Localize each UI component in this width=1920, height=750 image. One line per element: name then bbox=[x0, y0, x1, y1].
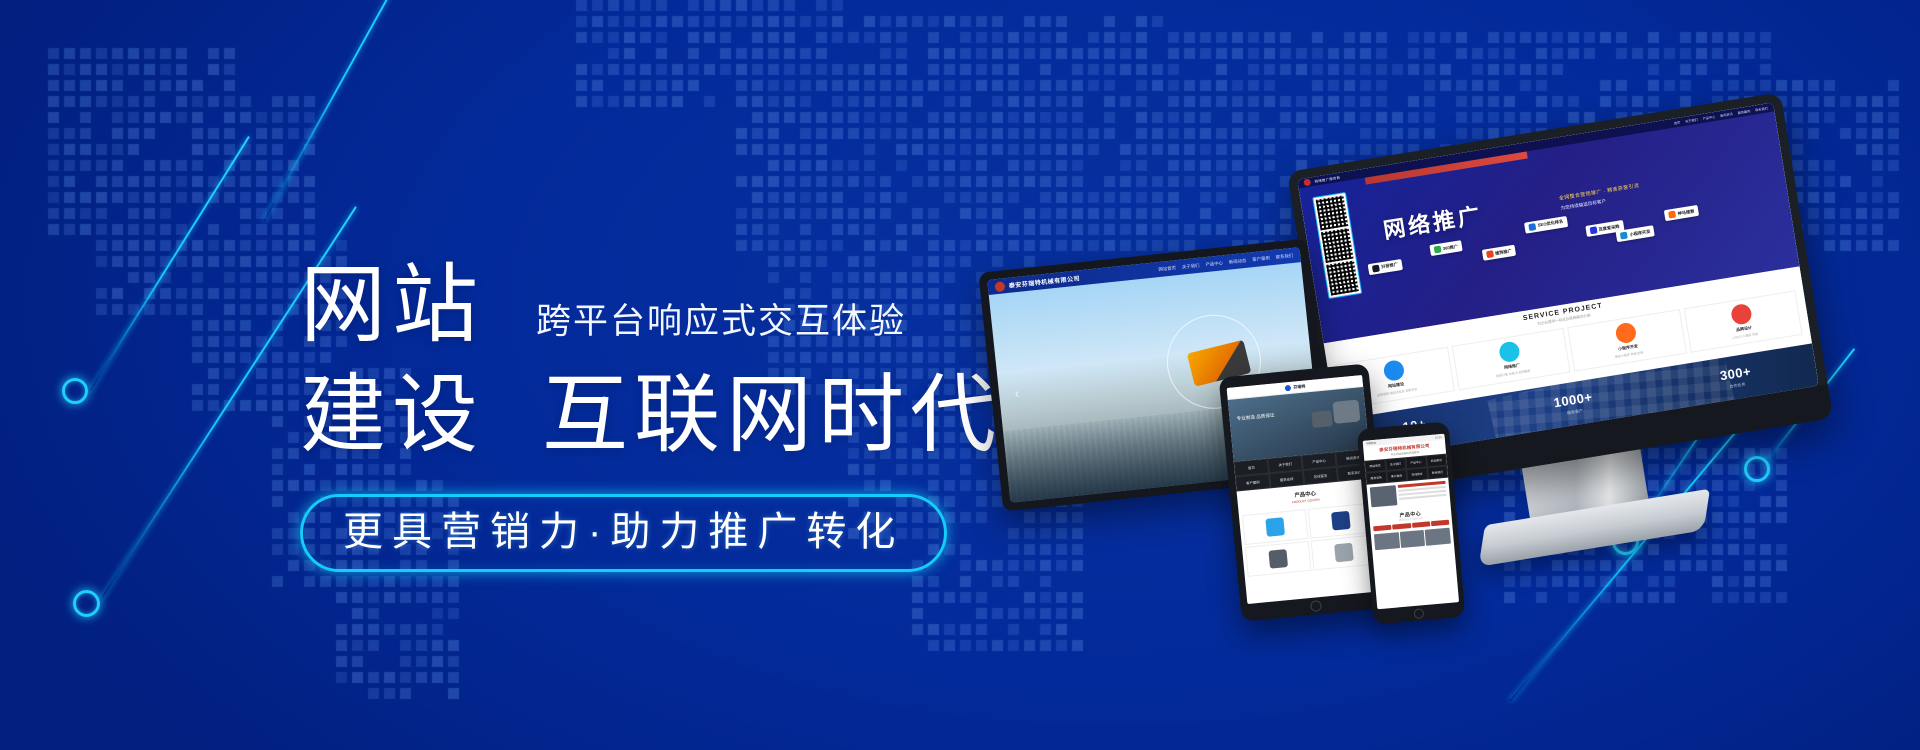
headline-word-2: 建设 bbox=[300, 372, 484, 458]
site-logo-icon bbox=[1303, 178, 1311, 186]
brand-chip[interactable]: 神马搜索 bbox=[1664, 205, 1699, 221]
tablet-hero-product-image bbox=[1332, 399, 1360, 423]
service-card-icon bbox=[1498, 341, 1521, 364]
product-thumb bbox=[1268, 549, 1288, 569]
phone-screen: 中国移动 10:24 泰安芬瑞特机械有限公司 专业机械设备制造服务商 网站首页关… bbox=[1363, 434, 1459, 610]
qr-code-icon bbox=[1316, 195, 1348, 230]
monitor-site-nav: 首页关于我们产品中心新闻资讯服务案例联系我们 bbox=[1673, 105, 1768, 125]
tagline-pill: 更具营销力·助力推广转化 bbox=[300, 494, 947, 572]
headline-word-1: 网站 bbox=[300, 262, 484, 348]
device-mockup-group: 网络推广服务商 首页关于我们产品中心新闻资讯服务案例联系我们 网络推广 全网整合… bbox=[1080, 120, 1920, 640]
brand-chip-label: 小程序开发 bbox=[1629, 229, 1651, 238]
brand-chip[interactable]: 360推广 bbox=[1429, 240, 1463, 256]
service-card-icon bbox=[1382, 360, 1405, 383]
phone-menu-item[interactable]: 服务支持 bbox=[1365, 471, 1386, 485]
brand-logo-icon bbox=[1589, 226, 1597, 234]
brand-chip-label: 360推广 bbox=[1442, 243, 1458, 251]
tablet-site-hero: 专业制造 品质保证 bbox=[1228, 387, 1369, 462]
tablet-product-grid bbox=[1239, 499, 1381, 580]
laptop-site-company: 泰安芬瑞特机械有限公司 bbox=[1008, 273, 1080, 289]
hero-banner: 网站 跨平台响应式交互体验 建设 互联网时代 更具营销力·助力推广转化 bbox=[0, 0, 1920, 750]
laptop-nav-item[interactable]: 客户案例 bbox=[1252, 255, 1270, 263]
service-card-icon bbox=[1614, 322, 1637, 345]
product-thumb bbox=[1334, 543, 1354, 563]
phone-menu-item[interactable]: 联系我们 bbox=[1427, 466, 1448, 480]
product-thumb bbox=[1265, 517, 1285, 537]
brand-logo-icon bbox=[1620, 232, 1628, 240]
headline-block: 网站 跨平台响应式交互体验 建设 互联网时代 更具营销力·助力推广转化 bbox=[300, 262, 1060, 572]
news-thumbnail bbox=[1370, 485, 1398, 507]
monitor-site-hero-sub-white: 为您持续输送目标客户 bbox=[1560, 199, 1606, 212]
phone-clock: 10:24 bbox=[1435, 436, 1442, 440]
brand-chip-label: SEO优化排名 bbox=[1537, 219, 1563, 229]
monitor-site-qr-strip bbox=[1312, 192, 1362, 299]
brand-chip[interactable]: 搜狗推广 bbox=[1481, 245, 1516, 261]
news-text-lines bbox=[1398, 481, 1448, 505]
gallery-thumb[interactable] bbox=[1425, 528, 1451, 546]
monitor-nav-item[interactable]: 新闻资讯 bbox=[1720, 111, 1733, 118]
monitor-nav-item[interactable]: 服务案例 bbox=[1737, 108, 1750, 115]
brand-chip-label: 搜狗推广 bbox=[1495, 248, 1513, 257]
laptop-site-logo-icon bbox=[994, 281, 1005, 292]
brand-logo-icon bbox=[1529, 223, 1537, 231]
brand-logo-icon bbox=[1486, 251, 1494, 259]
monitor-nav-item[interactable]: 联系我们 bbox=[1755, 105, 1768, 112]
tablet-site-logo-icon bbox=[1284, 384, 1291, 391]
monitor-nav-item[interactable]: 产品中心 bbox=[1702, 114, 1715, 121]
carousel-prev-icon[interactable]: ‹ bbox=[1014, 385, 1020, 400]
gallery-thumb[interactable] bbox=[1374, 532, 1400, 550]
phone-device: 中国移动 10:24 泰安芬瑞特机械有限公司 专业机械设备制造服务商 网站首页关… bbox=[1357, 421, 1466, 624]
qr-code-icon bbox=[1326, 261, 1358, 296]
headline-subtitle: 跨平台响应式交互体验 bbox=[536, 304, 906, 348]
laptop-nav-item[interactable]: 新闻动态 bbox=[1229, 257, 1247, 265]
tablet-screen: 芬瑞特 专业制造 品质保证 首页关于我们产品中心新闻资讯客户案例服务支持在线留言… bbox=[1227, 375, 1383, 604]
phone-menu-item[interactable]: 在线留言 bbox=[1406, 467, 1427, 481]
tablet-home-button[interactable] bbox=[1310, 600, 1322, 612]
brand-chip[interactable]: SEO优化排名 bbox=[1524, 216, 1568, 234]
brand-chip[interactable]: 抖音推广 bbox=[1368, 259, 1403, 275]
qr-code-icon bbox=[1321, 228, 1353, 263]
brand-logo-icon bbox=[1372, 264, 1380, 272]
monitor-nav-item[interactable]: 关于我们 bbox=[1685, 117, 1698, 124]
brand-logo-icon bbox=[1433, 246, 1441, 254]
tablet-hero-product-image-2 bbox=[1311, 410, 1332, 428]
service-card-icon bbox=[1730, 303, 1753, 326]
laptop-nav-item[interactable]: 联系我们 bbox=[1275, 252, 1293, 260]
stat-item: 300+ 合作伙伴 bbox=[1719, 364, 1754, 392]
product-thumb bbox=[1331, 511, 1351, 531]
laptop-nav-item[interactable]: 关于我们 bbox=[1182, 262, 1200, 270]
monitor-nav-item[interactable]: 首页 bbox=[1673, 120, 1680, 126]
laptop-nav-item[interactable]: 产品中心 bbox=[1205, 260, 1223, 268]
headline-emphasis: 互联网时代 bbox=[542, 372, 1002, 458]
gallery-thumb[interactable] bbox=[1399, 530, 1425, 548]
monitor-site-brand: 网络推广服务商 bbox=[1314, 175, 1340, 184]
phone-bezel: 中国移动 10:24 泰安芬瑞特机械有限公司 专业机械设备制造服务商 网站首页关… bbox=[1357, 421, 1466, 624]
brand-logo-icon bbox=[1668, 211, 1676, 219]
product-tile[interactable] bbox=[1242, 509, 1309, 545]
tablet-hero-text: 专业制造 品质保证 bbox=[1236, 412, 1275, 423]
tagline-wrap: 更具营销力·助力推广转化 bbox=[300, 494, 1060, 572]
service-card-desc: 搜索引擎 信息流 全网霸屏 bbox=[1496, 369, 1531, 379]
phone-home-button[interactable] bbox=[1414, 608, 1425, 619]
brand-chip-label: 神马搜索 bbox=[1677, 208, 1695, 217]
laptop-nav-item[interactable]: 网站首页 bbox=[1158, 265, 1176, 273]
service-card-desc: 品牌官网 响应式站点 定制开发 bbox=[1377, 388, 1418, 399]
phone-menu-item[interactable]: 客户案例 bbox=[1386, 469, 1407, 483]
product-tile[interactable] bbox=[1245, 541, 1312, 577]
brand-chip-label: 抖音推广 bbox=[1381, 262, 1399, 271]
tablet-site-brand: 芬瑞特 bbox=[1293, 383, 1306, 390]
laptop-site-nav: 网站首页关于我们产品中心新闻动态客户案例联系我们 bbox=[1158, 252, 1293, 272]
headline-row-1: 网站 跨平台响应式交互体验 bbox=[300, 262, 1060, 348]
headline-row-2: 建设 互联网时代 bbox=[300, 372, 1060, 458]
